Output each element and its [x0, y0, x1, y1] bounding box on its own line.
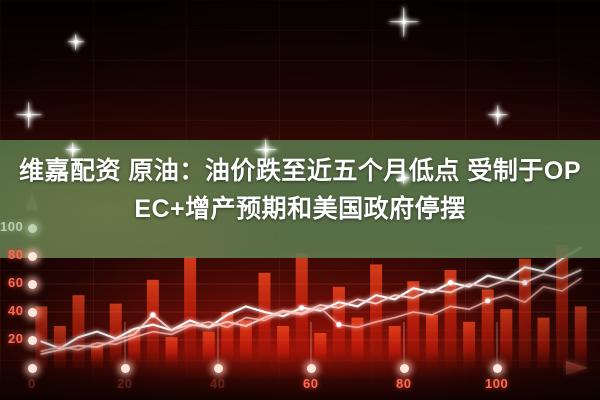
x-tick-label: 20	[117, 376, 132, 391]
headline-line-1: 维嘉配资 原油：油价跌至近五个月低点 受制于OP	[0, 152, 600, 190]
y-tick-label: 100	[0, 219, 23, 234]
x-tick-label: 40	[210, 376, 225, 391]
y-tick-dot	[28, 336, 37, 345]
x-tick-dot	[493, 364, 502, 373]
x-tick-label: 60	[303, 376, 318, 391]
page-title: 维嘉配资 原油：油价跌至近五个月低点 受制于OP EC+增产预期和美国政府停摆	[0, 152, 600, 228]
y-tick-dot	[28, 224, 37, 233]
y-tick-dot	[28, 308, 37, 317]
x-tick-label: 100	[485, 376, 508, 391]
x-tick-dot	[214, 364, 223, 373]
x-origin-dot	[28, 364, 37, 373]
x-tick-dot	[400, 364, 409, 373]
y-tick-dot	[28, 252, 37, 261]
news-thumbnail-image: 维嘉配资 原油：油价跌至近五个月低点 受制于OP EC+增产预期和美国政府停摆 …	[0, 0, 600, 400]
y-tick-label: 20	[8, 331, 23, 346]
y-tick-label: 40	[8, 303, 23, 318]
headline-line-2: EC+增产预期和美国政府停摆	[0, 190, 600, 228]
y-tick-dot	[28, 280, 37, 289]
x-tick-label: 80	[396, 376, 411, 391]
x-tick-dot	[121, 364, 130, 373]
y-tick-label: 80	[8, 247, 23, 262]
x-tick-label: 0	[28, 376, 36, 391]
background-bottom-shade	[0, 352, 600, 400]
y-tick-label: 60	[8, 275, 23, 290]
x-tick-dot	[307, 364, 316, 373]
